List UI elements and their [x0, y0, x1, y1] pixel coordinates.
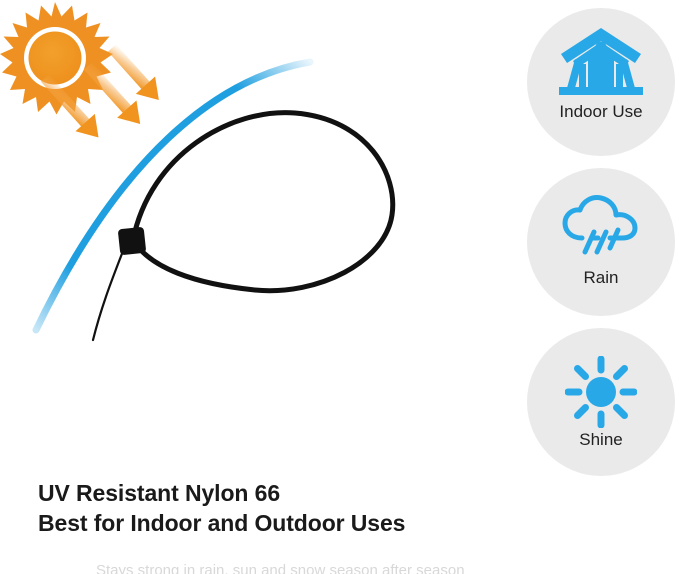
badge-rain[interactable]: Rain: [527, 168, 675, 316]
headline-line-2: Best for Indoor and Outdoor Uses: [38, 508, 478, 538]
badge-label-rain: Rain: [584, 268, 619, 288]
cable-tie-head: [118, 227, 147, 256]
bottom-teaser: Stays strong in rain, sun and snow seaso…: [96, 562, 516, 574]
badge-label-shine: Shine: [579, 430, 622, 450]
uv-exposure-cable-tie-illustration: [0, 0, 470, 400]
sun-core: [29, 32, 82, 85]
sun-shine-icon: [565, 356, 637, 416]
badge-shine[interactable]: Shine: [527, 328, 675, 476]
headline-line-1: UV Resistant Nylon 66: [38, 478, 478, 508]
cable-tie-graphic: [93, 113, 393, 340]
badge-indoor-use[interactable]: Indoor Use: [527, 8, 675, 156]
headline-block: UV Resistant Nylon 66 Best for Indoor an…: [38, 478, 478, 538]
house-icon: [555, 26, 647, 96]
cable-tie-tail: [93, 243, 126, 340]
product-feature-graphic: UV Resistant Nylon 66 Best for Indoor an…: [0, 0, 679, 574]
bottom-teaser-text: Stays strong in rain, sun and snow seaso…: [96, 562, 516, 574]
rain-cloud-icon: [560, 194, 642, 256]
badge-label-indoor-use: Indoor Use: [559, 102, 642, 122]
feature-badge-list: Indoor Use Rain: [527, 8, 679, 488]
